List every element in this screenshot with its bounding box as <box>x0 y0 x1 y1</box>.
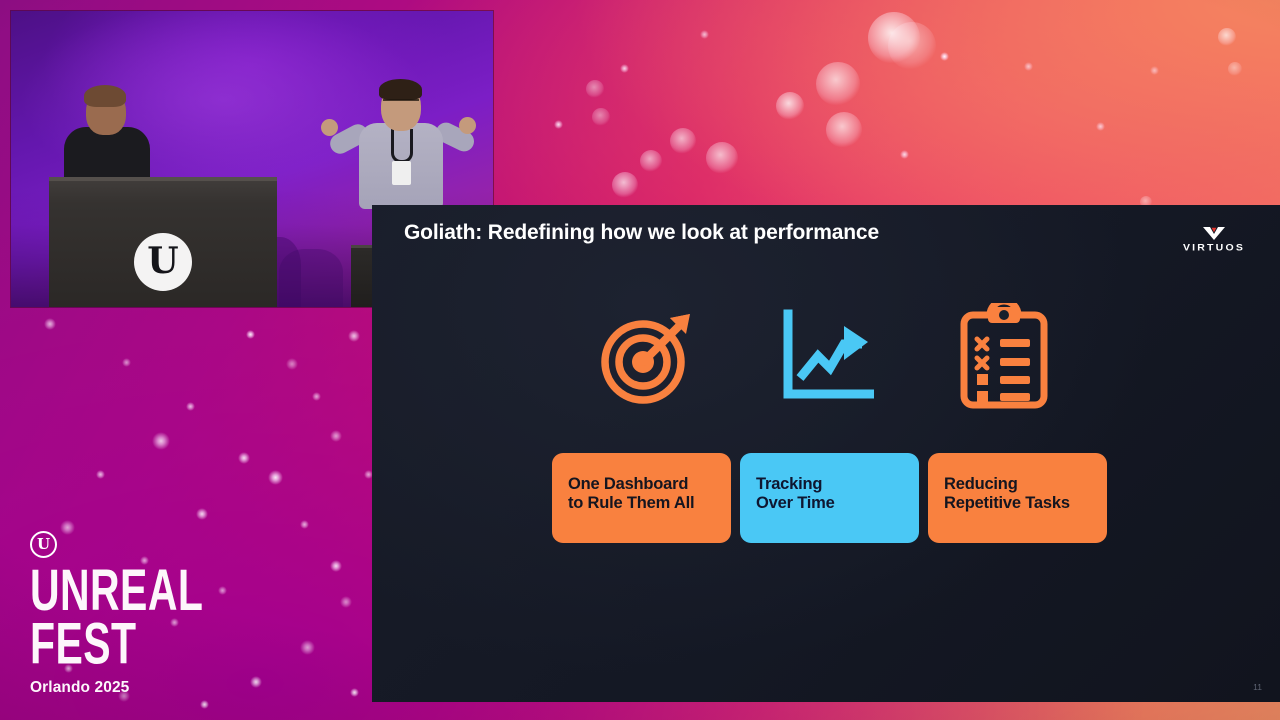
presentation-stream: U U UNREAL FEST Orlando 2025 Goliath: Re… <box>0 0 1280 720</box>
chip-reducing-repetitive-tasks[interactable]: Reducing Repetitive Tasks <box>928 453 1107 543</box>
main-podium: U <box>49 177 277 307</box>
slide-number: 11 <box>1253 682 1262 692</box>
unreal-engine-mark-icon: U <box>30 531 57 558</box>
slide-icon-row <box>372 301 1280 411</box>
speaker-left-hair <box>84 85 126 107</box>
virtuos-wordmark: VIRTUOS <box>1178 243 1250 254</box>
speaker-right-hair <box>379 79 422 100</box>
virtuos-logo: VIRTUOS <box>1178 227 1250 254</box>
slide-chip-row: One Dashboard to Rule Them All Tracking … <box>552 453 1107 543</box>
unreal-engine-logo-icon: U <box>134 233 192 291</box>
chip-tracking-over-time[interactable]: Tracking Over Time <box>740 453 919 543</box>
speaker-right-hand-left <box>321 119 338 136</box>
line-chart-up-icon <box>769 301 884 411</box>
chip-label: Reducing Repetitive Tasks <box>944 475 1091 514</box>
presentation-slide[interactable]: Goliath: Redefining how we look at perfo… <box>372 205 1280 702</box>
event-title: UNREAL FEST <box>30 564 276 671</box>
speaker-right-glasses <box>383 99 419 106</box>
clipboard-checklist-icon <box>947 301 1062 411</box>
unreal-fest-lockup: U UNREAL FEST Orlando 2025 <box>30 531 330 697</box>
lanyard <box>391 129 413 163</box>
podium-logo-glyph: U <box>147 243 178 279</box>
chip-one-dashboard[interactable]: One Dashboard to Rule Them All <box>552 453 731 543</box>
event-location-year: Orlando 2025 <box>30 679 330 697</box>
unreal-mark-glyph: U <box>37 537 50 552</box>
slide-title: Goliath: Redefining how we look at perfo… <box>404 221 879 245</box>
target-arrow-icon <box>591 301 706 411</box>
chip-label: One Dashboard to Rule Them All <box>568 475 715 514</box>
audience-silhouette <box>279 249 343 307</box>
conference-badge <box>392 161 411 185</box>
speaker-right-hand-right <box>459 117 476 134</box>
chip-label: Tracking Over Time <box>756 475 903 514</box>
virtuos-chevron-icon <box>1203 227 1225 240</box>
